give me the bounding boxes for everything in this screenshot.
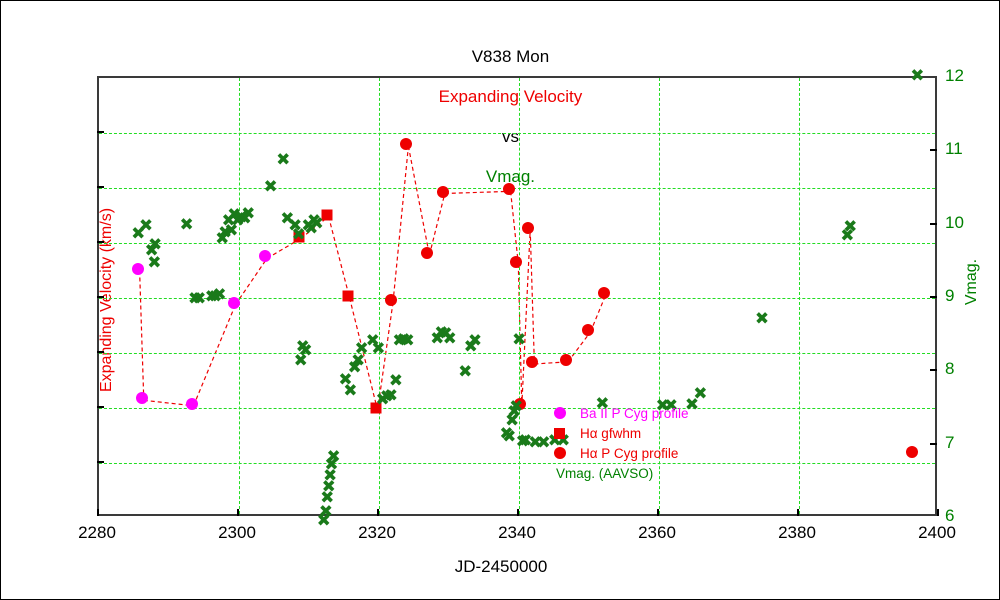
data-point-halpha-pcyg: [385, 294, 397, 306]
data-point-baii-pcyg: [132, 263, 144, 275]
red-square-icon: [554, 428, 580, 439]
x-axis-tick-mark: [797, 509, 799, 516]
data-point-halpha-pcyg: [503, 183, 515, 195]
data-point-vmag: ✖: [693, 389, 707, 399]
data-point-baii-pcyg: [228, 297, 240, 309]
data-point-halpha-pcyg: [522, 222, 534, 234]
x-axis-tick-label: 2300: [218, 523, 256, 543]
legend-item: Ba II P Cyg profile: [554, 403, 689, 423]
y-axis-right-tick-label: 12: [945, 66, 964, 86]
x-axis-tick-label: 2280: [78, 523, 116, 543]
data-point-vmag: ✖: [147, 258, 161, 268]
y-axis-right-label: Vmag.: [963, 259, 981, 305]
data-point-vmag: ✖: [139, 221, 153, 231]
x-axis-tick-mark: [377, 509, 379, 516]
data-point-vmag: ✖: [843, 222, 857, 232]
data-point-vmag: ✖: [276, 155, 290, 165]
data-point-vmag: ✖: [468, 336, 482, 346]
data-point-halpha-pcyg: [906, 446, 918, 458]
series-connector-segment: [408, 146, 429, 255]
y-axis-right-tick-label: 8: [945, 359, 954, 379]
data-point-baii-pcyg: [136, 392, 148, 404]
data-point-baii-pcyg: [186, 398, 198, 410]
y-axis-right-tick-mark: [930, 149, 937, 151]
data-point-vmag: ✖: [326, 452, 340, 462]
y-axis-right-tick-mark: [930, 296, 937, 298]
y-axis-right-tick-label: 10: [945, 213, 964, 233]
x-axis-tick-mark: [937, 509, 939, 516]
data-point-vmag: ✖: [179, 220, 193, 230]
y-axis-right-tick-label: 11: [945, 139, 963, 159]
series-connector-segment: [429, 194, 444, 256]
x-axis-tick-mark: [657, 509, 659, 516]
y-axis-right-tick-mark: [930, 443, 937, 445]
legend-item: Hα P Cyg profile: [554, 443, 689, 463]
data-point-halpha-pcyg: [560, 354, 572, 366]
magenta-circle-icon: [554, 407, 580, 419]
title-object: V838 Mon: [472, 47, 550, 66]
y-axis-right-tick-mark: [930, 369, 937, 371]
y-axis-right-tick-label: 9: [945, 286, 954, 306]
y-axis-left-tick-mark: [97, 186, 104, 188]
data-point-vmag: ✖: [310, 219, 324, 229]
data-point-vmag: ✖: [371, 344, 385, 354]
data-point-vmag: ✖: [384, 391, 398, 401]
legend-label: Hα gfwhm: [580, 426, 641, 441]
series-connector-segment: [140, 271, 144, 401]
y-axis-right-tick-mark: [930, 223, 937, 225]
data-point-vmag: ✖: [458, 367, 472, 377]
y-axis-left-tick-mark: [97, 131, 104, 133]
series-connector-segment: [445, 191, 511, 193]
data-point-vmag: ✖: [502, 432, 516, 442]
x-axis-tick-label: 2360: [638, 523, 676, 543]
data-point-vmag: ✖: [343, 386, 357, 396]
x-axis-tick-label: 2340: [498, 523, 536, 543]
series-connector-segment: [393, 146, 408, 302]
series-connector-segment: [511, 191, 519, 264]
x-axis-tick-label: 2400: [918, 523, 956, 543]
red-circle-icon: [554, 447, 580, 459]
legend-item: Hα gfwhm: [554, 423, 689, 443]
data-point-vmag: ✖: [401, 336, 415, 346]
y-axis-left-tick-mark: [97, 351, 104, 353]
data-point-vmag: ✖: [755, 314, 769, 324]
series-connector-segment: [236, 258, 268, 304]
data-point-vmag: ✖: [241, 209, 255, 219]
series-connector-segment: [530, 230, 534, 364]
data-point-halpha-pcyg: [437, 186, 449, 198]
data-point-vmag: ✖: [910, 71, 924, 81]
y-axis-right-tick-label: 7: [945, 433, 954, 453]
data-point-halpha-pcyg: [598, 287, 610, 299]
data-point-vmag: ✖: [148, 240, 162, 250]
chart-legend: Ba II P Cyg profile Hα gfwhm Hα P Cyg pr…: [554, 403, 689, 483]
data-point-halpha-pcyg: [510, 256, 522, 268]
data-point-vmag: ✖: [319, 507, 333, 517]
y-axis-left-tick-mark: [97, 241, 104, 243]
legend-note: Vmag. (AAVSO): [556, 466, 653, 481]
y-axis-left-tick-mark: [97, 406, 104, 408]
data-point-vmag: ✖: [512, 335, 526, 345]
data-point-halpha-pcyg: [526, 356, 538, 368]
x-axis-tick-label: 2380: [778, 523, 816, 543]
x-axis-label: JD-2450000: [1, 557, 1000, 577]
data-point-vmag: ✖: [509, 402, 523, 412]
series-connector-segment: [522, 230, 530, 406]
data-point-halpha-pcyg: [400, 138, 412, 150]
legend-label: Hα P Cyg profile: [580, 446, 678, 461]
x-axis-tick-mark: [237, 509, 239, 516]
chart-figure: V838 Mon Expanding Velocity vs Vmag. Exp…: [0, 0, 1000, 600]
data-point-halpha-pcyg: [421, 247, 433, 259]
data-point-halpha-pcyg: [582, 324, 594, 336]
series-connector-segment: [329, 217, 350, 298]
data-point-baii-pcyg: [259, 250, 271, 262]
data-point-halpha-gfwhm: [342, 291, 353, 302]
legend-note-row: Vmag. (AAVSO): [554, 463, 689, 483]
y-axis-left-tick-mark: [97, 461, 104, 463]
legend-label: Ba II P Cyg profile: [580, 406, 689, 421]
data-point-vmag: ✖: [263, 182, 277, 192]
y-axis-left-tick-mark: [97, 296, 104, 298]
data-point-vmag: ✖: [443, 334, 457, 344]
data-point-vmag: ✖: [212, 290, 226, 300]
x-axis-tick-mark: [97, 509, 99, 516]
x-axis-tick-label: 2320: [358, 523, 396, 543]
x-axis-tick-mark: [517, 509, 519, 516]
series-connector-segment: [194, 305, 236, 406]
y-axis-right-tick-label: 6: [945, 506, 954, 526]
data-point-vmag: ✖: [389, 376, 403, 386]
data-point-vmag: ✖: [298, 346, 312, 356]
